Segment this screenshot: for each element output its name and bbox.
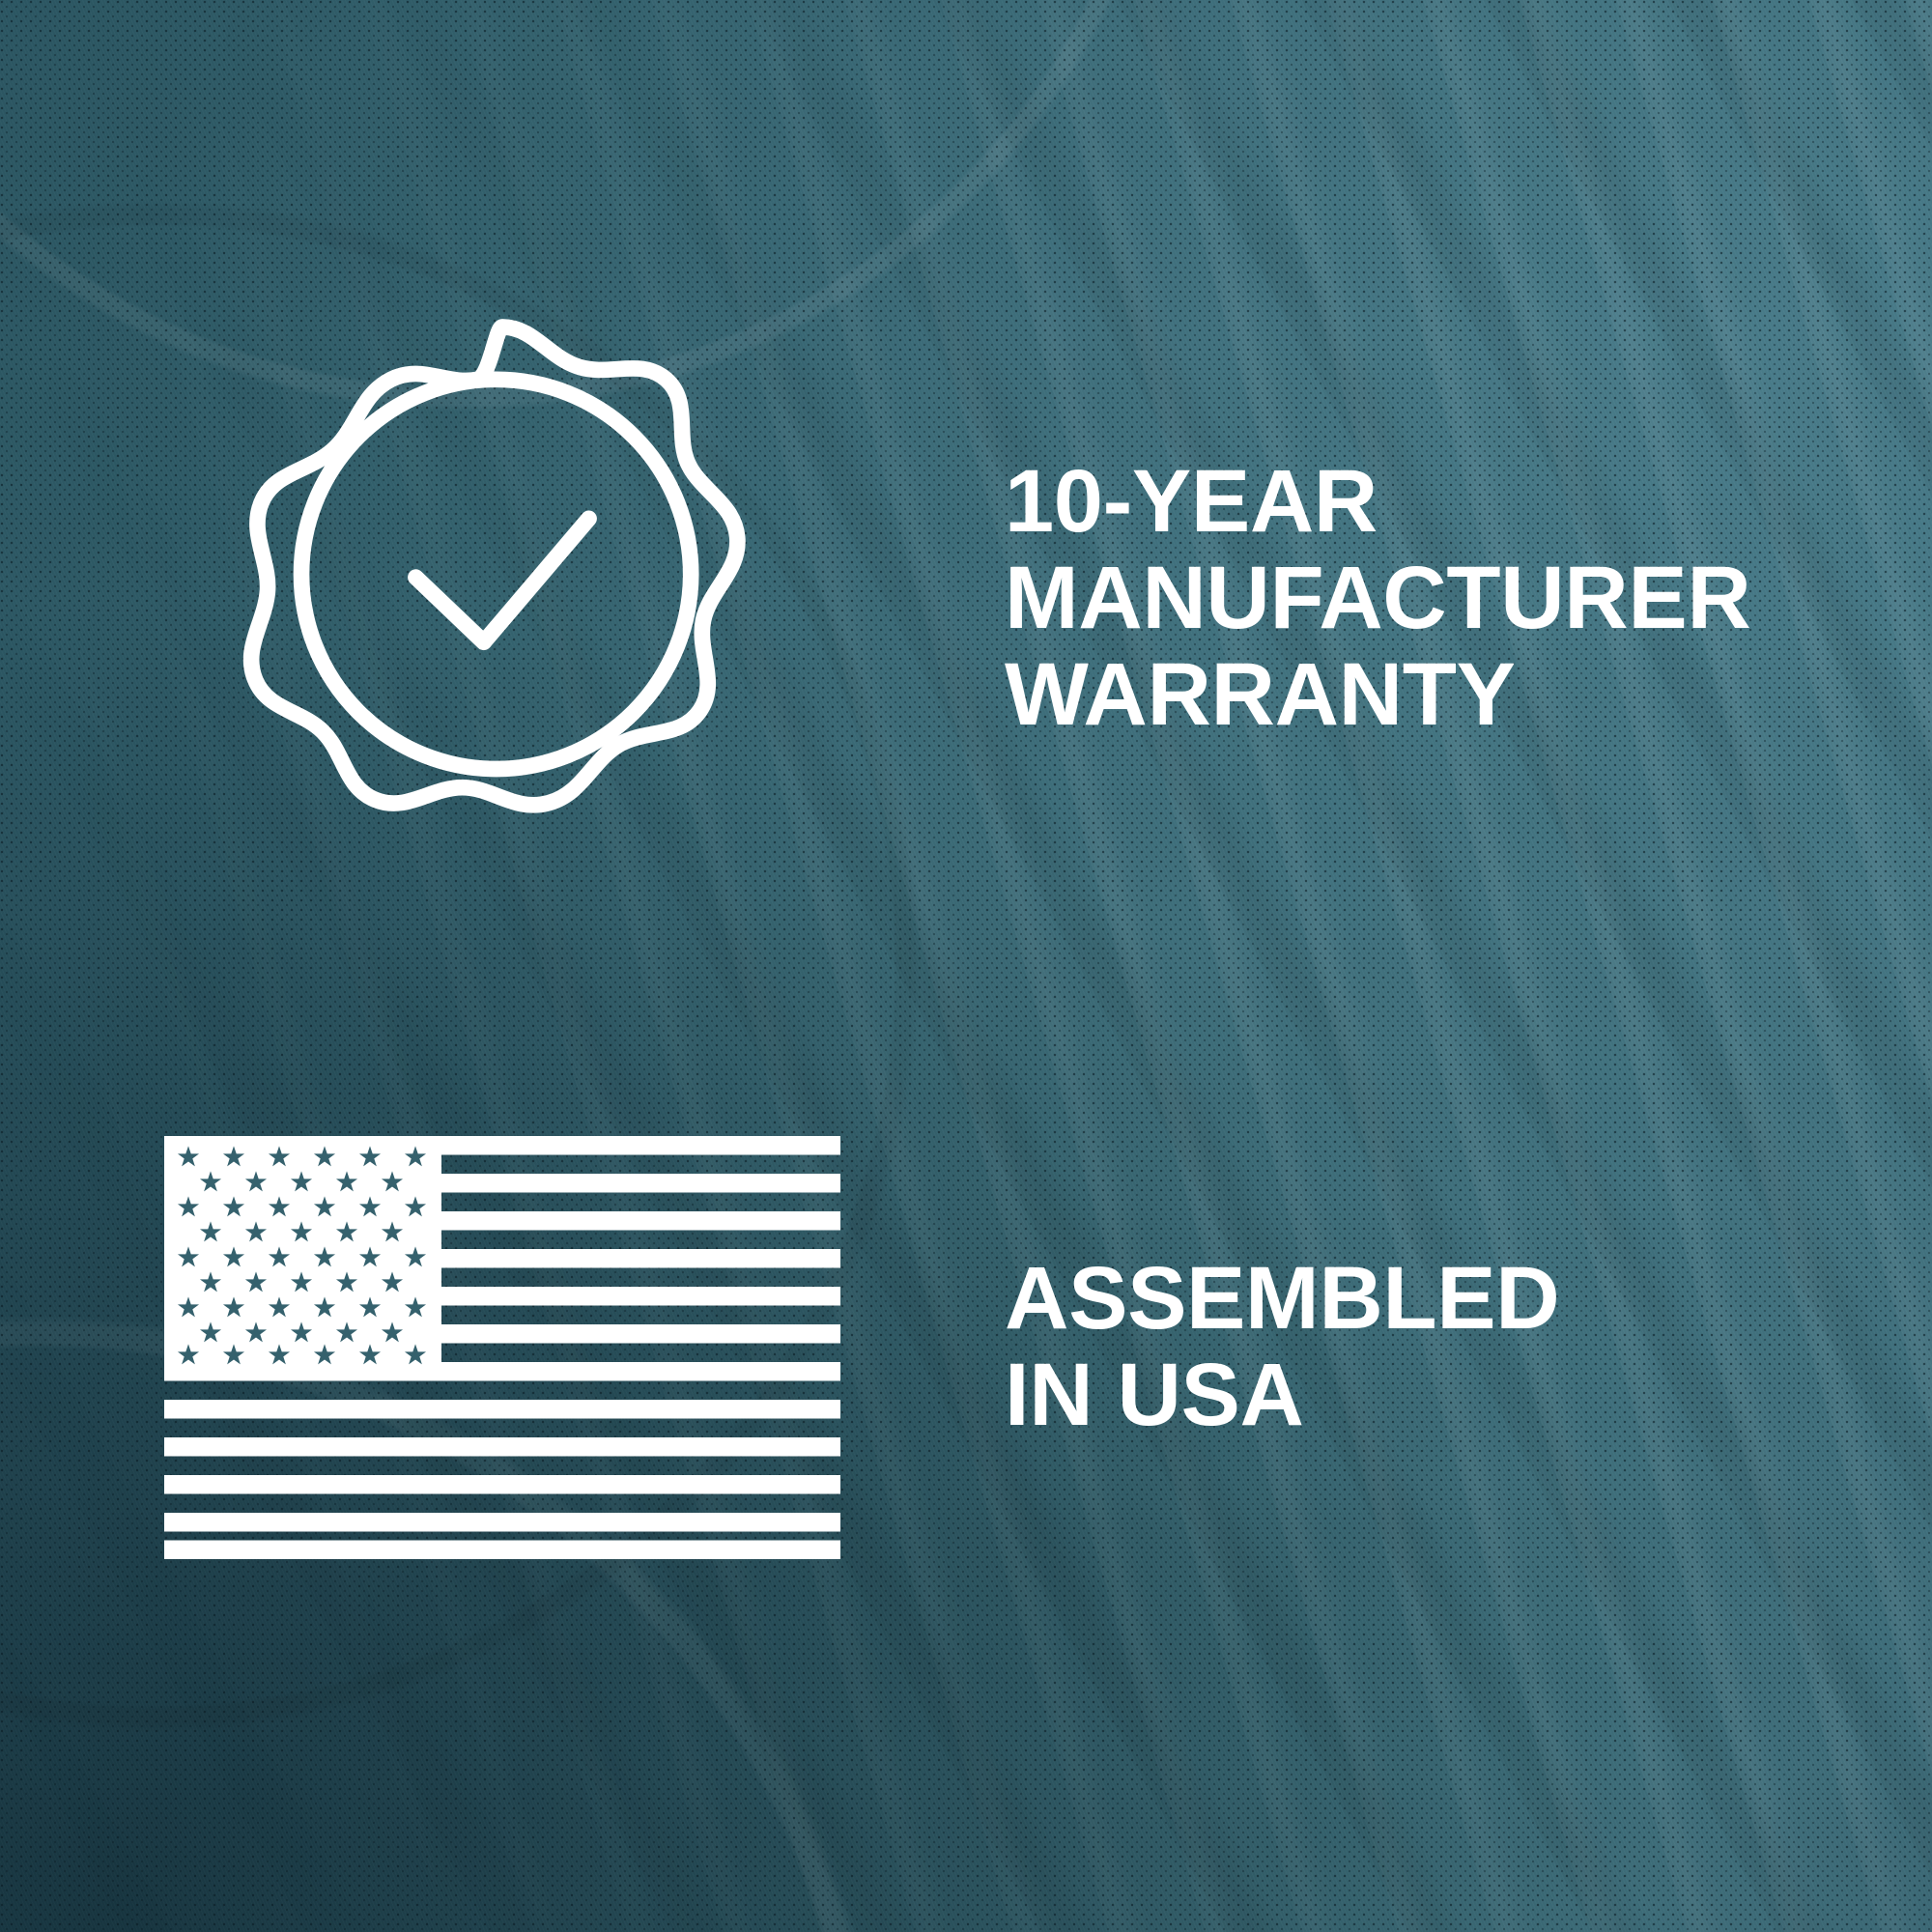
warranty-seal-icon <box>193 290 811 908</box>
usa-flag-icon-cell <box>0 1136 1005 1559</box>
feature-warranty: 10-YEAR MANUFACTURER WARRANTY <box>0 290 1932 908</box>
usa-text-cell: ASSEMBLED IN USA <box>1005 1251 1932 1444</box>
usa-flag-icon <box>164 1136 840 1559</box>
warranty-text-cell: 10-YEAR MANUFACTURER WARRANTY <box>1005 454 1932 743</box>
feature-assembled-in-usa: ASSEMBLED IN USA <box>0 1072 1932 1623</box>
warranty-headline: 10-YEAR MANUFACTURER WARRANTY <box>1005 454 1932 743</box>
assembled-in-usa-headline: ASSEMBLED IN USA <box>1005 1251 1932 1444</box>
warranty-icon-cell <box>0 290 1005 908</box>
promo-graphic: 10-YEAR MANUFACTURER WARRANTY <box>0 0 1932 1932</box>
